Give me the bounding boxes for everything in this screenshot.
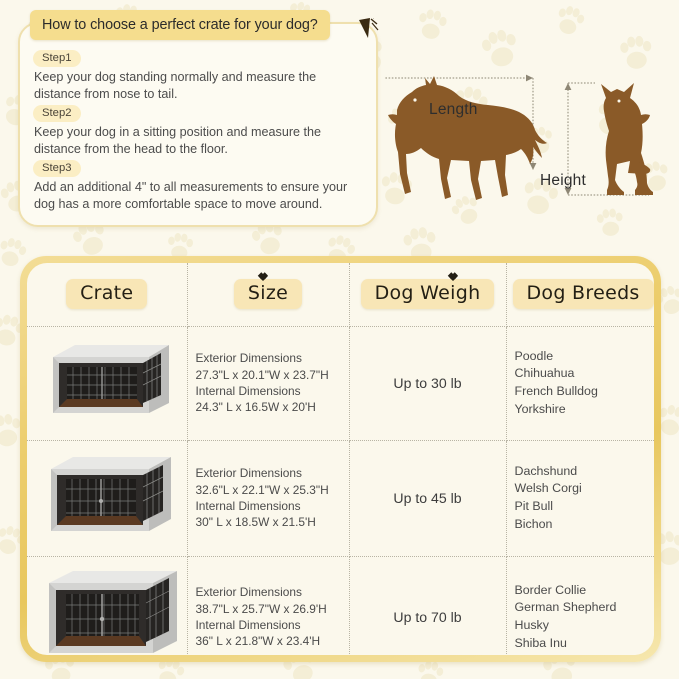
breed-item: Welsh Corgi [515, 480, 647, 498]
size-cell: Exterior Dimensions 27.3"L x 20.1"W x 23… [187, 326, 349, 440]
header-cell-dog-weigh: Dog Weigh [349, 263, 506, 326]
breed-item: Dachshund [515, 463, 647, 481]
header-label-crate: Crate [80, 282, 133, 304]
step-tag: Step2 [33, 105, 81, 122]
dog-crate-small-icon [37, 333, 177, 429]
header-pill-dog-breeds: Dog Breeds [513, 279, 654, 309]
dog-crate-medium-icon [35, 447, 179, 545]
size-line: 32.6"L x 22.1"W x 25.3"H [196, 482, 341, 498]
dog-silhouettes-svg [385, 40, 673, 235]
top-info-section: Length Height How to choose a perfect cr… [0, 0, 679, 248]
header-label-dog-weigh: Dog Weigh [375, 282, 481, 304]
dog-crate-large-icon [35, 563, 185, 656]
header-cell-dog-breeds: Dog Breeds [506, 263, 654, 326]
header-label-size: Size [248, 282, 288, 304]
size-line: Internal Dimensions [196, 383, 341, 399]
weight-cell: Up to 45 lb [349, 440, 506, 556]
table-header-row: Crate Size Dog Weigh [27, 263, 654, 326]
page-title: How to choose a perfect crate for your d… [42, 17, 318, 33]
size-line: Exterior Dimensions [196, 350, 341, 366]
header-cell-crate: Crate [27, 263, 187, 326]
breed-item: Border Collie [515, 582, 647, 600]
weight-cell: Up to 70 lb [349, 556, 506, 655]
crate-image-cell [27, 556, 187, 655]
header-cell-size: Size [187, 263, 349, 326]
table-row: Exterior Dimensions 38.7"L x 25.7"W x 26… [27, 556, 654, 655]
size-line: 30" L x 18.5W x 21.5'H [196, 514, 341, 530]
breed-item: Pit Bull [515, 498, 647, 516]
dog-measurement-illustration: Length Height [385, 40, 673, 235]
breed-item: Shiba Inu [515, 635, 647, 653]
step-item: Step1 Keep your dog standing normally an… [33, 48, 363, 102]
crate-spec-table: Crate Size Dog Weigh [27, 263, 654, 655]
breed-item: Chihuahua [515, 365, 647, 383]
length-label: Length [429, 101, 478, 119]
heart-dot-icon: i [450, 282, 456, 304]
step-text: Keep your dog standing normally and meas… [33, 69, 363, 102]
size-cell: Exterior Dimensions 38.7"L x 25.7"W x 26… [187, 556, 349, 655]
breed-item: Poodle [515, 348, 647, 366]
step-item: Step3 Add an additional 4" to all measur… [33, 158, 363, 212]
breed-item: Husky [515, 617, 647, 635]
size-line: Internal Dimensions [196, 617, 341, 633]
standing-dog-silhouette [388, 76, 547, 200]
size-line: Internal Dimensions [196, 498, 341, 514]
breed-item: German Shepherd [515, 599, 647, 617]
header-pill-dog-weigh: Dog Weigh [361, 279, 495, 309]
header-label-dog-breeds: Dog Breeds [527, 282, 640, 304]
step-tag: Step3 [33, 160, 81, 177]
size-line: 27.3"L x 20.1"W x 23.7"H [196, 367, 341, 383]
breed-item: French Bulldog [515, 383, 647, 401]
length-arrowhead-right [526, 75, 533, 82]
header-pill-size: Size [234, 279, 302, 309]
crate-image-cell [27, 440, 187, 556]
breed-item: Yorkshire [515, 401, 647, 419]
how-to-choose-card: How to choose a perfect crate for your d… [18, 22, 378, 227]
crate-image-cell [27, 326, 187, 440]
breeds-cell: Poodle Chihuahua French Bulldog Yorkshir… [506, 326, 654, 440]
heart-dot-icon: i [260, 282, 266, 304]
spec-table-panel: Crate Size Dog Weigh [20, 256, 661, 662]
step-text: Keep your dog in a sitting position and … [33, 124, 363, 157]
height-label: Height [540, 172, 586, 190]
steps-list: Step1 Keep your dog standing normally an… [20, 48, 376, 214]
spec-table-inner: Crate Size Dog Weigh [27, 263, 654, 655]
size-line: Exterior Dimensions [196, 465, 341, 481]
step-text: Add an additional 4" to all measurements… [33, 179, 363, 212]
length-arrowhead-down [530, 163, 537, 170]
card-title-banner: How to choose a perfect crate for your d… [30, 10, 330, 40]
step-item: Step2 Keep your dog in a sitting positio… [33, 103, 363, 157]
size-cell: Exterior Dimensions 32.6"L x 22.1"W x 25… [187, 440, 349, 556]
header-pill-crate: Crate [66, 279, 147, 309]
size-line: 38.7"L x 25.7"W x 26.9'H [196, 601, 341, 617]
speech-bubble-tail-icon [357, 18, 381, 48]
size-line: 36" L x 21.8"W x 23.4'H [196, 633, 341, 649]
size-line: 24.3" L x 16.5W x 20'H [196, 399, 341, 415]
table-row: Exterior Dimensions 27.3"L x 20.1"W x 23… [27, 326, 654, 440]
breeds-cell: Border Collie German Shepherd Husky Shib… [506, 556, 654, 655]
weight-cell: Up to 30 lb [349, 326, 506, 440]
breed-item: Bichon [515, 516, 647, 534]
breeds-cell: Dachshund Welsh Corgi Pit Bull Bichon [506, 440, 654, 556]
sitting-dog-silhouette [601, 83, 653, 195]
step-tag: Step1 [33, 50, 81, 67]
table-row: Exterior Dimensions 32.6"L x 22.1"W x 25… [27, 440, 654, 556]
height-arrowhead-top [565, 83, 572, 90]
size-line: Exterior Dimensions [196, 584, 341, 600]
